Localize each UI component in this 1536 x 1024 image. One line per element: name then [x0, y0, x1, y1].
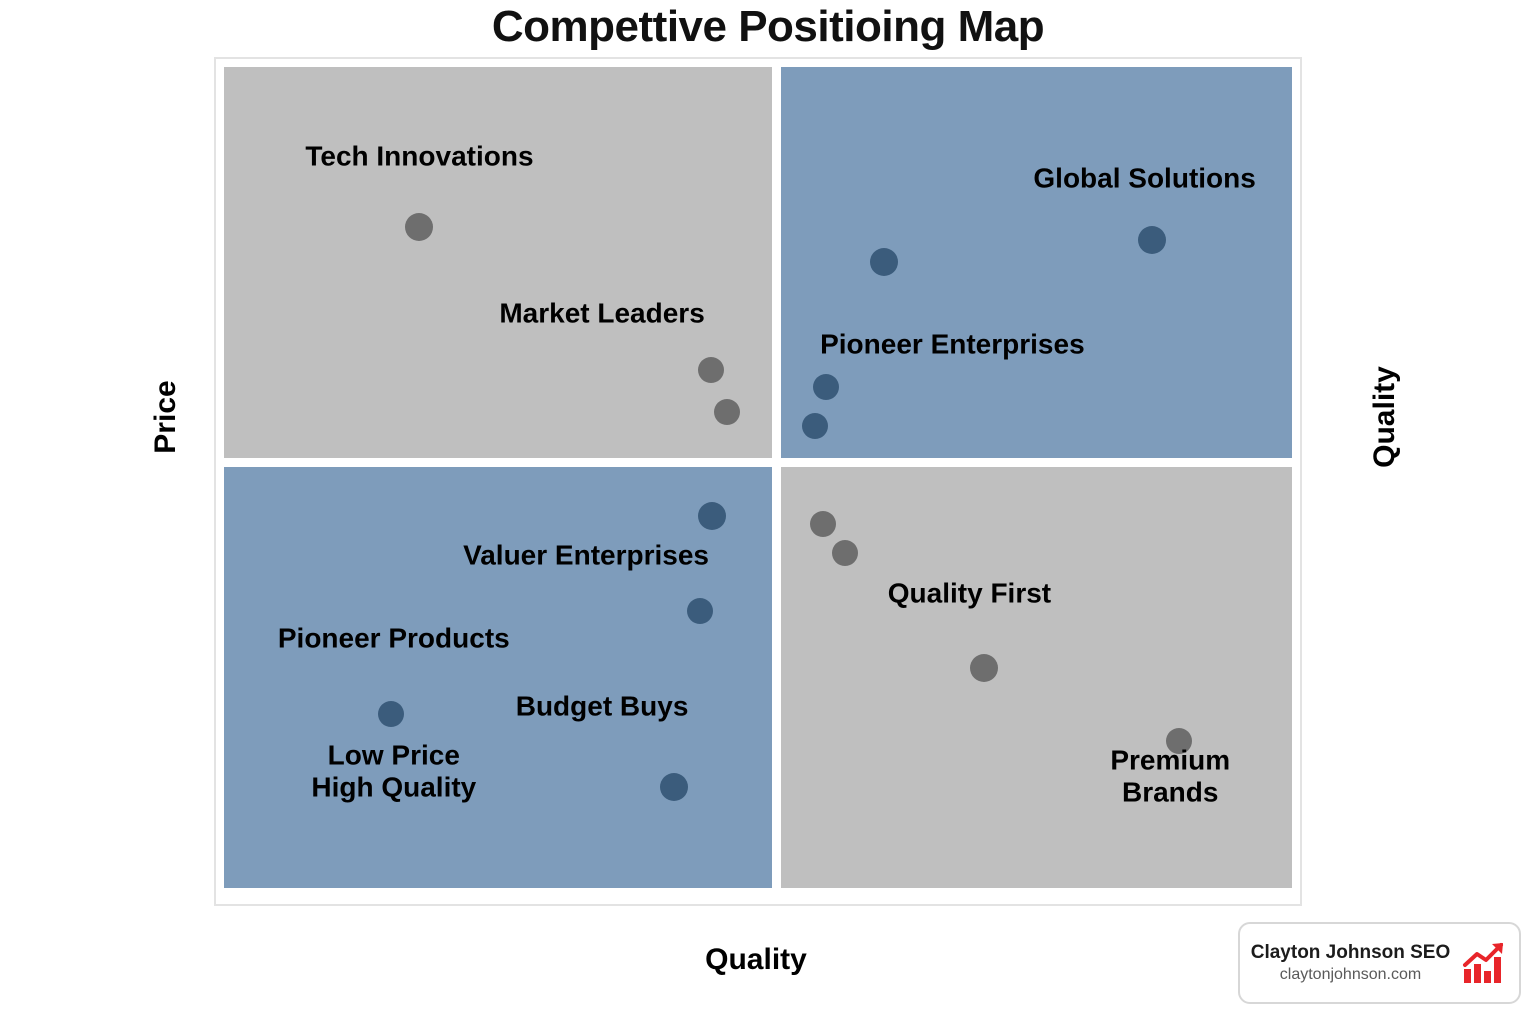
data-point-valuer-enterprises-a[interactable] [698, 502, 726, 530]
data-point-quality-first-c[interactable] [970, 654, 998, 682]
quadrant-top-left [224, 67, 772, 458]
map-label-quality-first: Quality First [888, 578, 1051, 609]
map-label-market-leaders: Market Leaders [499, 298, 704, 329]
brand-url: claytonjohnson.com [1280, 966, 1421, 984]
map-label-valuer-enterprises: Valuer Enterprises [463, 539, 709, 570]
map-label-budget-buys: Budget Buys [516, 690, 689, 721]
data-point-quality-first-a[interactable] [810, 511, 836, 537]
map-label-pioneer-products: Pioneer Products [278, 622, 510, 653]
map-label-pioneer-enterprises: Pioneer Enterprises [820, 328, 1085, 359]
map-label-tech-innovations: Tech Innovations [305, 140, 533, 171]
quadrant-bottom-right [781, 467, 1292, 888]
quadrant-top-right [781, 67, 1292, 458]
y-axis-title-right: Quality [1368, 342, 1402, 492]
data-point-pioneer-enterprise-b[interactable] [802, 413, 828, 439]
map-label-global-solutions: Global Solutions [1033, 162, 1255, 193]
brand-text-block: Clayton Johnson SEO claytonjohnson.com [1251, 942, 1451, 984]
brand-name: Clayton Johnson SEO [1251, 942, 1451, 964]
data-point-valuer-enterprises-b[interactable] [687, 598, 713, 624]
data-point-global-solutions[interactable] [1138, 226, 1166, 254]
page-title: Compettive Positioing Map [0, 2, 1536, 52]
data-point-pioneer-enterprise-a[interactable] [813, 374, 839, 400]
map-label-low-price-high-quality: Low Price High Quality [311, 740, 476, 803]
growth-bar-chart-icon [1462, 941, 1508, 985]
quadrant-bottom-left [224, 467, 772, 888]
positioning-map-canvas: Compettive Positioing Map Tech Innovatio… [0, 0, 1536, 1024]
data-point-market-leaders-b[interactable] [714, 399, 740, 425]
brand-badge[interactable]: Clayton Johnson SEO claytonjohnson.com [1238, 922, 1521, 1004]
map-label-premium-brands: Premium Brands [1110, 745, 1230, 808]
data-point-top-right-mid[interactable] [870, 248, 898, 276]
data-point-budget-buys[interactable] [660, 773, 688, 801]
data-point-market-leaders-a[interactable] [698, 357, 724, 383]
y-axis-title-left: Price [149, 357, 183, 477]
data-point-pioneer-products[interactable] [378, 701, 404, 727]
data-point-tech-innovations[interactable] [405, 213, 433, 241]
data-point-quality-first-b[interactable] [832, 540, 858, 566]
